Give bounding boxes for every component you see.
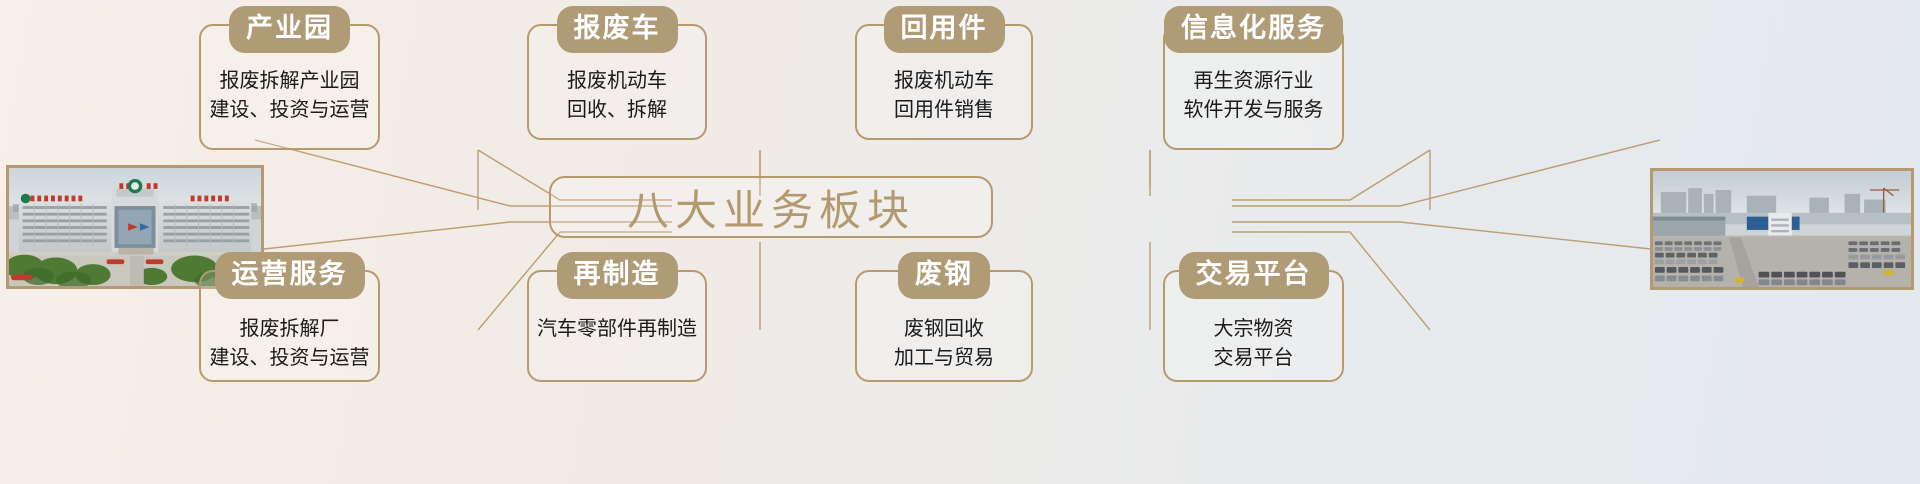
segment-description: 再生资源行业 软件开发与服务 xyxy=(1184,67,1324,125)
segment-description: 报废机动车 回收、拆解 xyxy=(567,67,667,125)
segment-badge: 信息化服务 xyxy=(1164,6,1343,53)
segment-card-it-services[interactable]: 信息化服务 再生资源行业 软件开发与服务 xyxy=(1163,24,1344,150)
segment-card-reusable-parts[interactable]: 回用件 报废机动车 回用件销售 xyxy=(855,24,1033,140)
segment-badge: 交易平台 xyxy=(1179,252,1329,299)
segment-badge: 产业园 xyxy=(229,6,350,53)
hub-node[interactable]: 八大业务板块 xyxy=(549,176,993,238)
segment-badge: 废钢 xyxy=(898,252,990,299)
segment-description: 报废机动车 回用件销售 xyxy=(894,67,994,125)
segment-badge: 再制造 xyxy=(557,252,678,299)
yard-photo-art xyxy=(1653,171,1911,287)
segment-card-operation-services[interactable]: 运营服务 报废拆解厂 建设、投资与运营 xyxy=(199,270,380,382)
business-segments-diagram: 产业园 报废拆解产业园 建设、投资与运营 报废车 报废机动车 回收、拆解 回用件… xyxy=(0,0,1920,484)
segment-card-trading-platform[interactable]: 交易平台 大宗物资 交易平台 xyxy=(1163,270,1344,382)
segment-card-industrial-park[interactable]: 产业园 报废拆解产业园 建设、投资与运营 xyxy=(199,24,380,150)
segment-card-remanufacturing[interactable]: 再制造 汽车零部件再制造 xyxy=(527,270,707,382)
segment-description: 大宗物资 交易平台 xyxy=(1214,315,1294,373)
segment-badge: 报废车 xyxy=(557,6,678,53)
segment-description: 报废拆解厂 建设、投资与运营 xyxy=(210,315,370,373)
segment-description: 汽车零部件再制造 xyxy=(537,315,697,344)
segment-card-scrap-vehicle[interactable]: 报废车 报废机动车 回收、拆解 xyxy=(527,24,707,140)
vehicle-yard-aerial-photo xyxy=(1650,168,1914,290)
segment-description: 废钢回收 加工与贸易 xyxy=(894,315,994,373)
segment-badge: 回用件 xyxy=(884,6,1005,53)
segment-description: 报废拆解产业园 建设、投资与运营 xyxy=(210,67,370,125)
segment-card-scrap-steel[interactable]: 废钢 废钢回收 加工与贸易 xyxy=(855,270,1033,382)
segment-badge: 运营服务 xyxy=(215,252,365,299)
hub-title: 八大业务板块 xyxy=(627,177,915,238)
